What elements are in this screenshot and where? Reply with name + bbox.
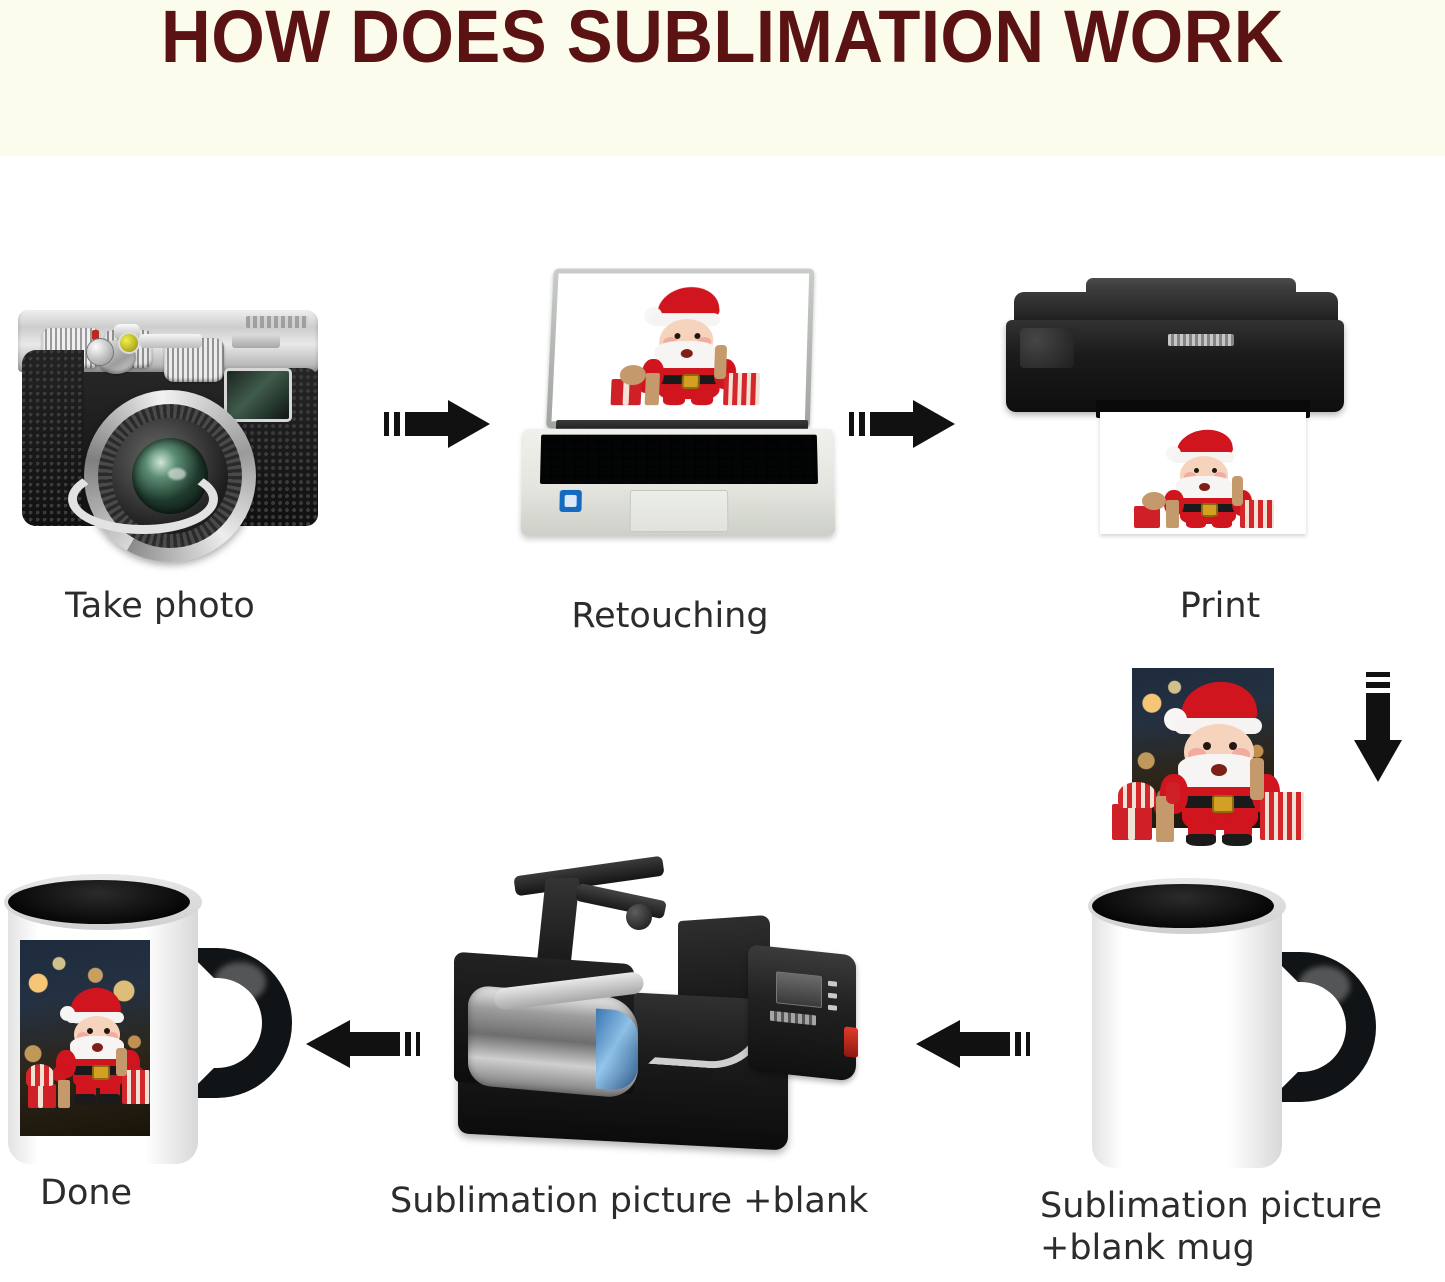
finished-mug-printed-area — [20, 940, 150, 1136]
page-title: HOW DOES SUBLIMATION WORK — [51, 0, 1395, 76]
heat-press-led-2 — [828, 993, 837, 999]
heat-press-illustration — [448, 862, 858, 1162]
camera-lens-hood — [68, 464, 218, 534]
laptop-base — [521, 429, 836, 536]
arrow-press-to-done — [306, 1016, 420, 1072]
finished-mug-handle-highlight — [214, 962, 266, 1002]
santa-artwork-print — [1132, 430, 1282, 526]
label-print: Print — [1080, 585, 1360, 627]
camera-viewfinder — [224, 368, 292, 422]
camera-nameplate — [246, 316, 308, 328]
arrow-mug-to-press — [916, 1016, 1030, 1072]
laptop-illustration — [512, 268, 842, 568]
santa-artwork-mug — [36, 988, 146, 1136]
blank-mug-illustration — [1092, 878, 1392, 1178]
sublimation-picture-illustration — [1098, 668, 1308, 858]
printer-brand-logo — [1168, 334, 1234, 346]
camera-front-trim — [140, 334, 202, 348]
printer-control-panel — [1020, 328, 1074, 368]
heat-press-linkage — [575, 883, 667, 919]
heat-press-controller — [748, 944, 856, 1081]
camera-illustration — [10, 268, 330, 568]
laptop-lid — [546, 269, 814, 429]
finished-mug-interior — [8, 880, 190, 924]
label-done: Done — [40, 1172, 320, 1214]
laptop-screen — [551, 274, 809, 422]
label-retouching: Retouching — [480, 595, 860, 637]
label-blank-mug: Sublimation picture +blank mug — [1040, 1185, 1440, 1269]
heat-press-power-button — [844, 1026, 858, 1057]
heat-press-blue-accent — [596, 1009, 638, 1092]
heat-press-led-3 — [828, 1005, 837, 1011]
heat-press-display — [776, 971, 822, 1008]
printer-output-paper — [1100, 412, 1306, 534]
laptop-keyboard — [540, 435, 818, 484]
camera-hotshoe — [232, 334, 280, 348]
arrow-laptop-to-printer — [849, 396, 955, 452]
arrow-printer-to-sheet — [1350, 672, 1406, 782]
blank-mug-interior — [1092, 884, 1274, 928]
blank-mug-rim — [1088, 878, 1286, 934]
arrow-camera-to-laptop — [384, 396, 490, 452]
laptop-trackpad — [630, 490, 729, 532]
finished-mug-rim — [4, 874, 202, 930]
blank-mug-body — [1092, 898, 1282, 1168]
label-heat-press: Sublimation picture +blank — [390, 1180, 950, 1222]
blank-mug-handle-highlight — [1298, 966, 1350, 1006]
finished-mug-illustration — [8, 874, 308, 1174]
santa-artwork-sheet — [1104, 678, 1304, 850]
heat-press-brand-logo — [770, 1011, 816, 1026]
heat-press-led-1 — [828, 981, 837, 987]
printer-illustration — [1000, 278, 1350, 568]
santa-artwork-screen — [604, 287, 764, 405]
label-take-photo: Take photo — [20, 585, 300, 627]
infographic-canvas: HOW DOES SUBLIMATION WORK — [0, 0, 1445, 1282]
camera-front-dial — [86, 338, 114, 366]
laptop-processor-sticker — [559, 490, 581, 512]
camera-af-illuminator — [118, 332, 140, 354]
heat-press-pivot — [626, 904, 652, 930]
